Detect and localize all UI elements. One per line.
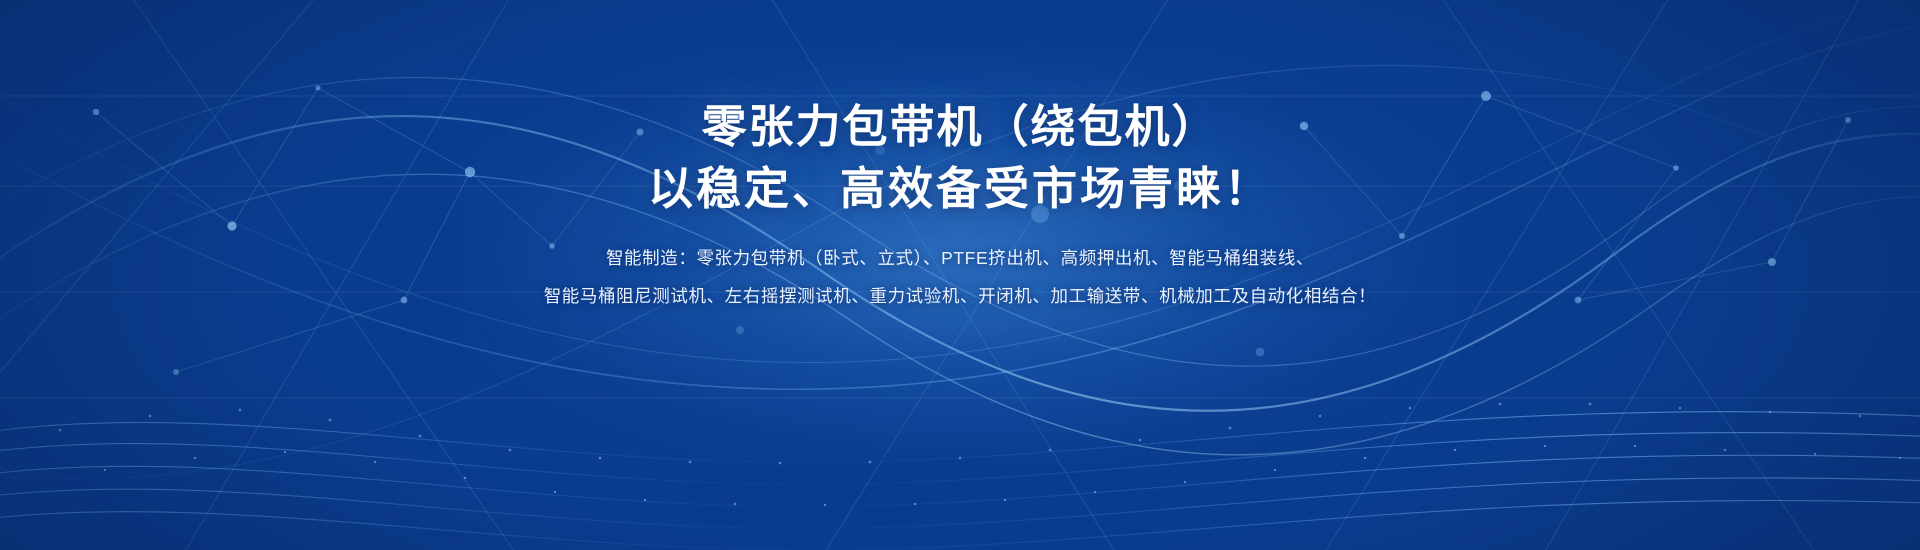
subtitle-line-2: 智能马桶阻尼测试机、左右摇摆测试机、重力试验机、开闭机、加工输送带、机械加工及自… <box>544 278 1377 316</box>
headline-line-1: 零张力包带机（绕包机） <box>648 96 1272 158</box>
banner-subtitle: 智能制造：零张力包带机（卧式、立式）、PTFE挤出机、高频押出机、智能马桶组装线… <box>544 240 1377 315</box>
banner-content: 零张力包带机（绕包机） 以稳定、高效备受市场青睐！ 智能制造：零张力包带机（卧式… <box>0 0 1920 315</box>
subtitle-line-1: 智能制造：零张力包带机（卧式、立式）、PTFE挤出机、高频押出机、智能马桶组装线… <box>544 240 1377 278</box>
banner-headline: 零张力包带机（绕包机） 以稳定、高效备受市场青睐！ <box>648 96 1272 220</box>
headline-line-2: 以稳定、高效备受市场青睐！ <box>648 158 1272 220</box>
hero-banner: 零张力包带机（绕包机） 以稳定、高效备受市场青睐！ 智能制造：零张力包带机（卧式… <box>0 0 1920 550</box>
